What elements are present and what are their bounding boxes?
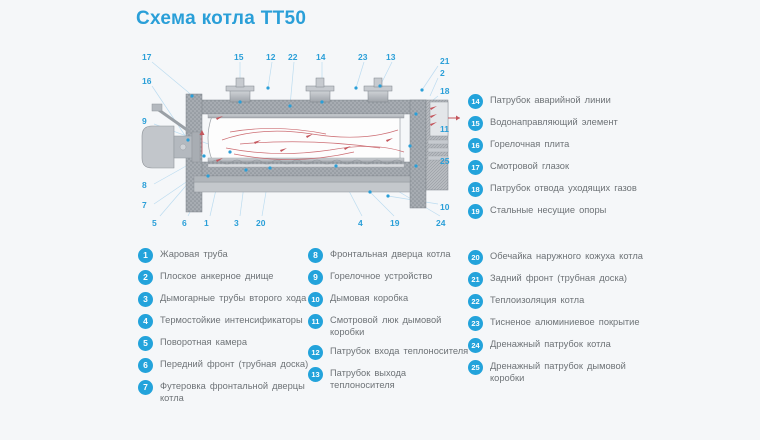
svg-text:16: 16 xyxy=(142,76,152,86)
legend-badge: 4 xyxy=(138,314,153,329)
svg-text:17: 17 xyxy=(142,52,152,62)
svg-text:14: 14 xyxy=(316,52,326,62)
support-beam xyxy=(194,182,410,192)
svg-text:18: 18 xyxy=(440,86,450,96)
legend-label: Горелочное устройство xyxy=(330,270,432,283)
svg-text:9: 9 xyxy=(142,116,147,126)
legend-item: 11Смотровой люк дымовой коробки xyxy=(308,314,473,338)
legend-item: 25Дренажный патрубок дымовой коробки xyxy=(468,360,653,384)
legend-badge: 14 xyxy=(468,94,483,109)
legend-badge: 16 xyxy=(468,138,483,153)
legend-badge: 6 xyxy=(138,358,153,373)
legend-badge: 22 xyxy=(468,294,483,309)
svg-text:13: 13 xyxy=(386,52,396,62)
svg-text:21: 21 xyxy=(440,56,450,66)
svg-text:7: 7 xyxy=(142,200,147,210)
legend-item: 2Плоское анкерное днище xyxy=(138,270,313,285)
flue-gas-outlet xyxy=(448,116,460,121)
second-pass-tubes xyxy=(208,164,404,167)
legend-label: Задний фронт (трубная доска) xyxy=(490,272,627,285)
legend-item: 23Тисненое алюминиевое покрытие xyxy=(468,316,653,331)
legend-column-3-lower: 20Обечайка наружного кожуха котла21Задни… xyxy=(468,250,653,391)
legend-badge: 1 xyxy=(138,248,153,263)
legend-label: Дренажный патрубок дымовой коробки xyxy=(490,360,653,384)
smoke-box xyxy=(426,100,448,190)
boiler-cutaway-diagram: 17169 151222 142313 21218 112510 87 561 … xyxy=(130,44,460,234)
top-nozzles xyxy=(226,78,392,102)
legend-badge: 25 xyxy=(468,360,483,375)
svg-text:15: 15 xyxy=(234,52,244,62)
legend-item: 1Жаровая труба xyxy=(138,248,313,263)
legend-item: 17Смотровой глазок xyxy=(468,160,648,175)
legend-label: Патрубок отвода уходящих газов xyxy=(490,182,637,195)
legend-badge: 2 xyxy=(138,270,153,285)
water-guide-top xyxy=(208,114,404,118)
legend-badge: 23 xyxy=(468,316,483,331)
legend-item: 5Поворотная камера xyxy=(138,336,313,351)
legend-label: Жаровая труба xyxy=(160,248,228,261)
legend-item: 8Фронтальная дверца котла xyxy=(308,248,473,263)
legend-badge: 5 xyxy=(138,336,153,351)
legend-item: 18Патрубок отвода уходящих газов xyxy=(468,182,648,197)
legend-badge: 8 xyxy=(308,248,323,263)
legend-badge: 12 xyxy=(308,345,323,360)
legend-label: Поворотная камера xyxy=(160,336,247,349)
legend-label: Обечайка наружного кожуха котла xyxy=(490,250,643,263)
legend-label: Горелочная плита xyxy=(490,138,569,151)
svg-text:6: 6 xyxy=(182,218,187,228)
legend-item: 21Задний фронт (трубная доска) xyxy=(468,272,653,287)
legend-label: Смотровой глазок xyxy=(490,160,569,173)
legend-item: 3Дымогарные трубы второго хода xyxy=(138,292,313,307)
legend-column-2: 8Фронтальная дверца котла9Горелочное уст… xyxy=(308,248,473,398)
legend-item: 16Горелочная плита xyxy=(468,138,648,153)
page-title: Схема котла ТТ50 xyxy=(136,8,306,30)
svg-text:2: 2 xyxy=(440,68,445,78)
legend-badge: 17 xyxy=(468,160,483,175)
svg-text:25: 25 xyxy=(440,156,450,166)
legend-label: Теплоизоляция котла xyxy=(490,294,584,307)
svg-text:22: 22 xyxy=(288,52,298,62)
legend-item: 24Дренажный патрубок котла xyxy=(468,338,653,353)
legend-label: Водонаправляющий элемент xyxy=(490,116,618,129)
legend-badge: 24 xyxy=(468,338,483,353)
legend-badge: 13 xyxy=(308,367,323,382)
legend-badge: 10 xyxy=(308,292,323,307)
svg-text:11: 11 xyxy=(440,124,449,134)
legend-badge: 15 xyxy=(468,116,483,131)
svg-text:23: 23 xyxy=(358,52,368,62)
legend-label: Патрубок аварийной линии xyxy=(490,94,611,107)
legend-item: 20Обечайка наружного кожуха котла xyxy=(468,250,653,265)
legend-label: Патрубок входа теплоносителя xyxy=(330,345,468,358)
legend-item: 19Стальные несущие опоры xyxy=(468,204,648,219)
legend-item: 22Теплоизоляция котла xyxy=(468,294,653,309)
support-plate xyxy=(194,176,410,182)
legend-item: 12Патрубок входа теплоносителя xyxy=(308,345,473,360)
legend-badge: 18 xyxy=(468,182,483,197)
legend-label: Смотровой люк дымовой коробки xyxy=(330,314,473,338)
combustion-chamber xyxy=(208,116,400,160)
legend-badge: 11 xyxy=(308,314,323,329)
legend-badge: 3 xyxy=(138,292,153,307)
legend-label: Фронтальная дверца котла xyxy=(330,248,451,261)
legend-column-3-upper: 14Патрубок аварийной линии15Водонаправля… xyxy=(468,94,648,226)
legend-column-1: 1Жаровая труба2Плоское анкерное днище3Ды… xyxy=(138,248,313,411)
svg-text:5: 5 xyxy=(152,218,157,228)
svg-text:4: 4 xyxy=(358,218,363,228)
legend-label: Дымогарные трубы второго хода xyxy=(160,292,306,305)
legend-badge: 19 xyxy=(468,204,483,219)
legend-item: 13Патрубок выхода теплоносителя xyxy=(308,367,473,391)
svg-text:12: 12 xyxy=(266,52,276,62)
legend-badge: 20 xyxy=(468,250,483,265)
legend-item: 15Водонаправляющий элемент xyxy=(468,116,648,131)
legend-item: 4Термостойкие интенсификаторы xyxy=(138,314,313,329)
legend-label: Плоское анкерное днище xyxy=(160,270,273,283)
legend-badge: 9 xyxy=(308,270,323,285)
legend-label: Термостойкие интенсификаторы xyxy=(160,314,303,327)
legend-label: Футеровка фронтальной дверцы котла xyxy=(160,380,313,404)
svg-text:19: 19 xyxy=(390,218,400,228)
rear-tube-plate xyxy=(410,100,426,208)
svg-text:10: 10 xyxy=(440,202,450,212)
legend-label: Тисненое алюминиевое покрытие xyxy=(490,316,640,329)
legend-item: 9Горелочное устройство xyxy=(308,270,473,285)
legend-item: 10Дымовая коробка xyxy=(308,292,473,307)
legend-item: 6Передний фронт (трубная доска) xyxy=(138,358,313,373)
svg-text:20: 20 xyxy=(256,218,266,228)
legend-label: Передний фронт (трубная доска) xyxy=(160,358,308,371)
legend-item: 14Патрубок аварийной линии xyxy=(468,94,648,109)
svg-text:8: 8 xyxy=(142,180,147,190)
svg-text:3: 3 xyxy=(234,218,239,228)
legend-badge: 7 xyxy=(138,380,153,395)
legend-label: Патрубок выхода теплоносителя xyxy=(330,367,473,391)
legend-label: Дымовая коробка xyxy=(330,292,408,305)
legend-item: 7Футеровка фронтальной дверцы котла xyxy=(138,380,313,404)
svg-text:24: 24 xyxy=(436,218,446,228)
legend-label: Стальные несущие опоры xyxy=(490,204,606,217)
svg-text:1: 1 xyxy=(204,218,209,228)
legend-badge: 21 xyxy=(468,272,483,287)
boiler-schematic-page: Схема котла ТТ50 xyxy=(0,0,760,440)
legend-label: Дренажный патрубок котла xyxy=(490,338,611,351)
